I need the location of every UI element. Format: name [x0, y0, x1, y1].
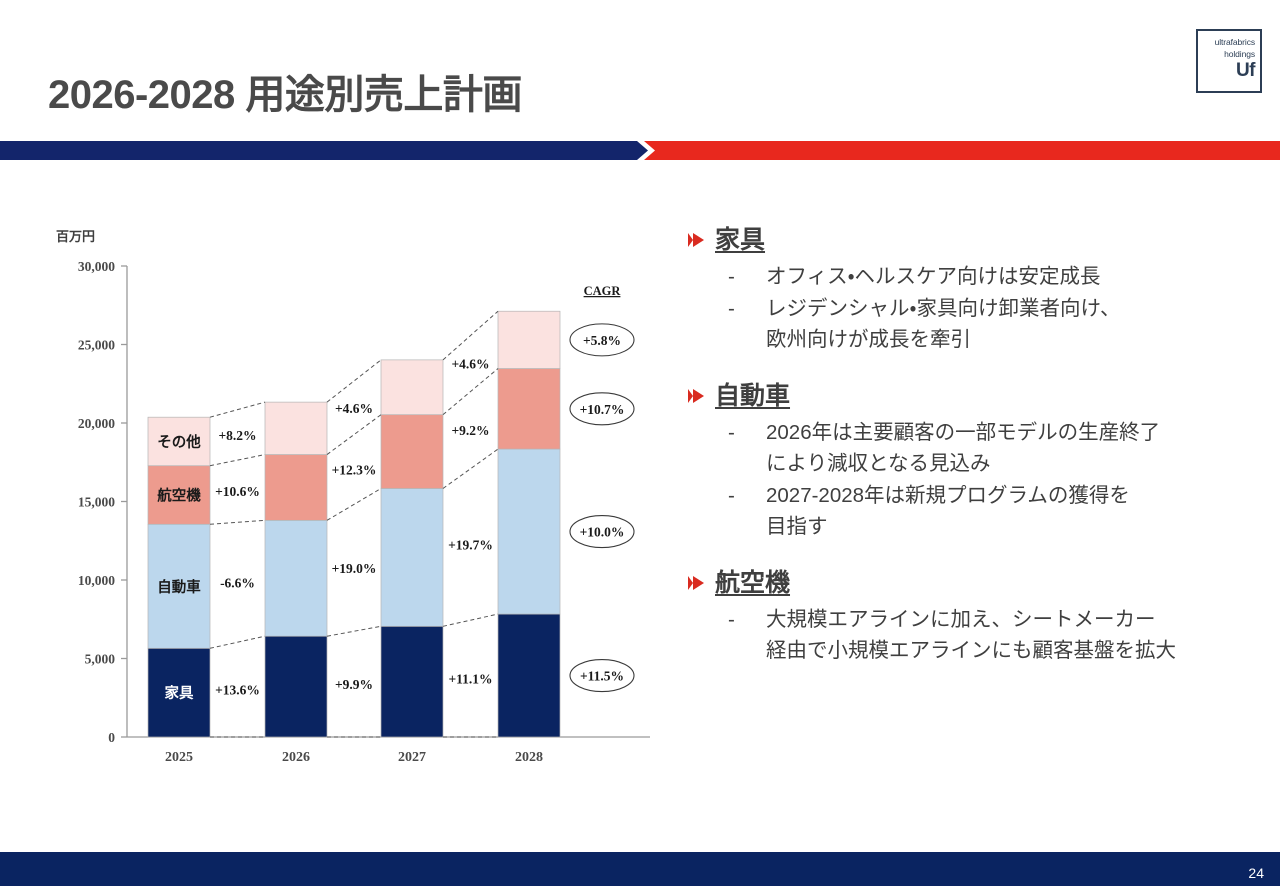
connector-line: [210, 402, 265, 417]
divider-band: [0, 141, 1280, 160]
bullet-dash: -: [686, 604, 766, 666]
cagr-value: +5.8%: [583, 333, 621, 348]
growth-rate-label: +19.7%: [448, 537, 493, 552]
connector-line: [443, 369, 498, 415]
slide-root: 2026-2028 用途別売上計画 ultrafabrics holdings …: [0, 0, 1280, 886]
note-heading: 航空機: [686, 568, 1256, 598]
logo-line-2: holdings: [1202, 48, 1255, 60]
bar-segment-自動車: [498, 449, 560, 614]
connector-line: [327, 415, 381, 455]
note-title: 航空機: [715, 568, 790, 598]
bullet-text: 大規模エアラインに加え、シートメーカー経由で小規模エアラインにも顧客基盤を拡大: [766, 604, 1256, 666]
commentary-panel: 家具 - オフィス・ヘルスケア向けは安定成長 - レジデンシャル・家具向け卸業者…: [686, 225, 1256, 692]
y-axis-tick-label: 30,000: [78, 259, 115, 274]
note-bullet-list: - 2026年は主要顧客の一部モデルの生産終了により減収となる見込み - 202…: [686, 417, 1256, 542]
list-item: - 大規模エアラインに加え、シートメーカー経由で小規模エアラインにも顧客基盤を拡…: [686, 604, 1256, 666]
bullet-text: 2027-2028年は新規プログラムの獲得を目指す: [766, 480, 1256, 542]
growth-rate-label: +19.0%: [332, 561, 377, 576]
bullet-dash: -: [686, 261, 766, 292]
note-block-automotive: 自動車 - 2026年は主要顧客の一部モデルの生産終了により減収となる見込み -…: [686, 381, 1256, 542]
footer-bar: [0, 852, 1280, 886]
series-label-家具: 家具: [165, 684, 194, 702]
series-label-航空機: 航空機: [157, 486, 201, 504]
arrow-bullet-icon: [686, 388, 706, 409]
series-label-自動車: 自動車: [157, 578, 201, 596]
growth-rate-label: +12.3%: [332, 463, 377, 478]
logo-line-1: ultrafabrics: [1202, 36, 1255, 48]
connector-line: [327, 488, 381, 520]
note-heading: 家具: [686, 225, 1256, 255]
y-axis-tick-label: 15,000: [78, 495, 115, 510]
page-number: 24: [1248, 865, 1264, 881]
y-axis-tick-label: 0: [108, 730, 115, 745]
x-axis-tick-label: 2026: [282, 750, 310, 765]
note-bullet-list: - オフィス・ヘルスケア向けは安定成長 - レジデンシャル・家具向け卸業者向け、…: [686, 261, 1256, 355]
connector-line: [210, 520, 265, 524]
company-logo: ultrafabrics holdings Uf: [1196, 29, 1262, 93]
arrow-bullet-icon: [686, 232, 706, 253]
growth-rate-label: +11.1%: [448, 672, 492, 687]
list-item: - オフィス・ヘルスケア向けは安定成長: [686, 261, 1256, 292]
bar-segment-自動車: [265, 520, 327, 636]
bullet-dash: -: [686, 293, 766, 355]
growth-rate-label: +4.6%: [335, 401, 373, 416]
connector-line: [443, 614, 498, 626]
bullet-dash: -: [686, 480, 766, 542]
divider-navy-segment: [0, 141, 648, 160]
x-axis-tick-label: 2028: [515, 750, 543, 765]
note-block-furniture: 家具 - オフィス・ヘルスケア向けは安定成長 - レジデンシャル・家具向け卸業者…: [686, 225, 1256, 355]
connector-line: [443, 311, 498, 360]
list-item: - 2027-2028年は新規プログラムの獲得を目指す: [686, 480, 1256, 542]
note-title: 家具: [715, 225, 765, 255]
connector-line: [327, 626, 381, 636]
y-axis-tick-label: 20,000: [78, 416, 115, 431]
list-item: - 2026年は主要顧客の一部モデルの生産終了により減収となる見込み: [686, 417, 1256, 479]
y-axis-tick-label: 25,000: [78, 338, 115, 353]
cagr-value: +10.7%: [580, 402, 625, 417]
bar-segment-家具: [265, 636, 327, 737]
note-heading: 自動車: [686, 381, 1256, 411]
bullet-text: オフィス・ヘルスケア向けは安定成長: [766, 261, 1256, 292]
connector-line: [443, 449, 498, 488]
bar-segment-その他: [498, 311, 560, 368]
cagr-value: +11.5%: [580, 669, 624, 684]
connector-line: [210, 636, 265, 648]
note-block-aviation: 航空機 - 大規模エアラインに加え、シートメーカー経由で小規模エアラインにも顧客…: [686, 568, 1256, 666]
bullet-dash: -: [686, 417, 766, 479]
x-axis-tick-label: 2027: [398, 750, 426, 765]
connector-line: [327, 360, 381, 402]
bullet-text: レジデンシャル・家具向け卸業者向け、欧州向けが成長を牽引: [766, 293, 1256, 355]
bar-segment-自動車: [381, 488, 443, 626]
growth-rate-label: +9.9%: [335, 677, 373, 692]
bar-segment-その他: [265, 402, 327, 454]
divider-red-segment: [644, 141, 1280, 160]
note-title: 自動車: [715, 381, 790, 411]
note-bullet-list: - 大規模エアラインに加え、シートメーカー経由で小規模エアラインにも顧客基盤を拡…: [686, 604, 1256, 666]
bar-segment-航空機: [381, 415, 443, 489]
growth-rate-label: -6.6%: [220, 575, 255, 590]
bar-segment-航空機: [265, 455, 327, 521]
bar-segment-家具: [381, 626, 443, 737]
list-item: - レジデンシャル・家具向け卸業者向け、欧州向けが成長を牽引: [686, 293, 1256, 355]
arrow-bullet-icon: [686, 575, 706, 596]
bar-segment-航空機: [498, 369, 560, 450]
connector-line: [210, 455, 265, 466]
sales-plan-chart: 百万円 05,00010,00015,00020,00025,00030,000…: [0, 195, 670, 795]
y-axis-tick-label: 10,000: [78, 573, 115, 588]
growth-rate-label: +9.2%: [451, 423, 489, 438]
growth-rate-label: +4.6%: [451, 357, 489, 372]
bar-segment-家具: [498, 614, 560, 737]
page-title: 2026-2028 用途別売上計画: [48, 62, 522, 120]
cagr-value: +10.0%: [580, 525, 625, 540]
logo-monogram: Uf: [1202, 60, 1255, 82]
growth-rate-label: +13.6%: [215, 683, 260, 698]
chart-canvas: 05,00010,00015,00020,00025,00030,0002025…: [0, 195, 670, 795]
cagr-column-header: CAGR: [584, 284, 622, 298]
growth-rate-label: +8.2%: [218, 428, 256, 443]
growth-rate-label: +10.6%: [215, 484, 260, 499]
x-axis-tick-label: 2025: [165, 750, 193, 765]
bar-segment-その他: [381, 360, 443, 415]
series-label-その他: その他: [157, 433, 201, 451]
y-axis-tick-label: 5,000: [85, 652, 116, 667]
bullet-text: 2026年は主要顧客の一部モデルの生産終了により減収となる見込み: [766, 417, 1256, 479]
